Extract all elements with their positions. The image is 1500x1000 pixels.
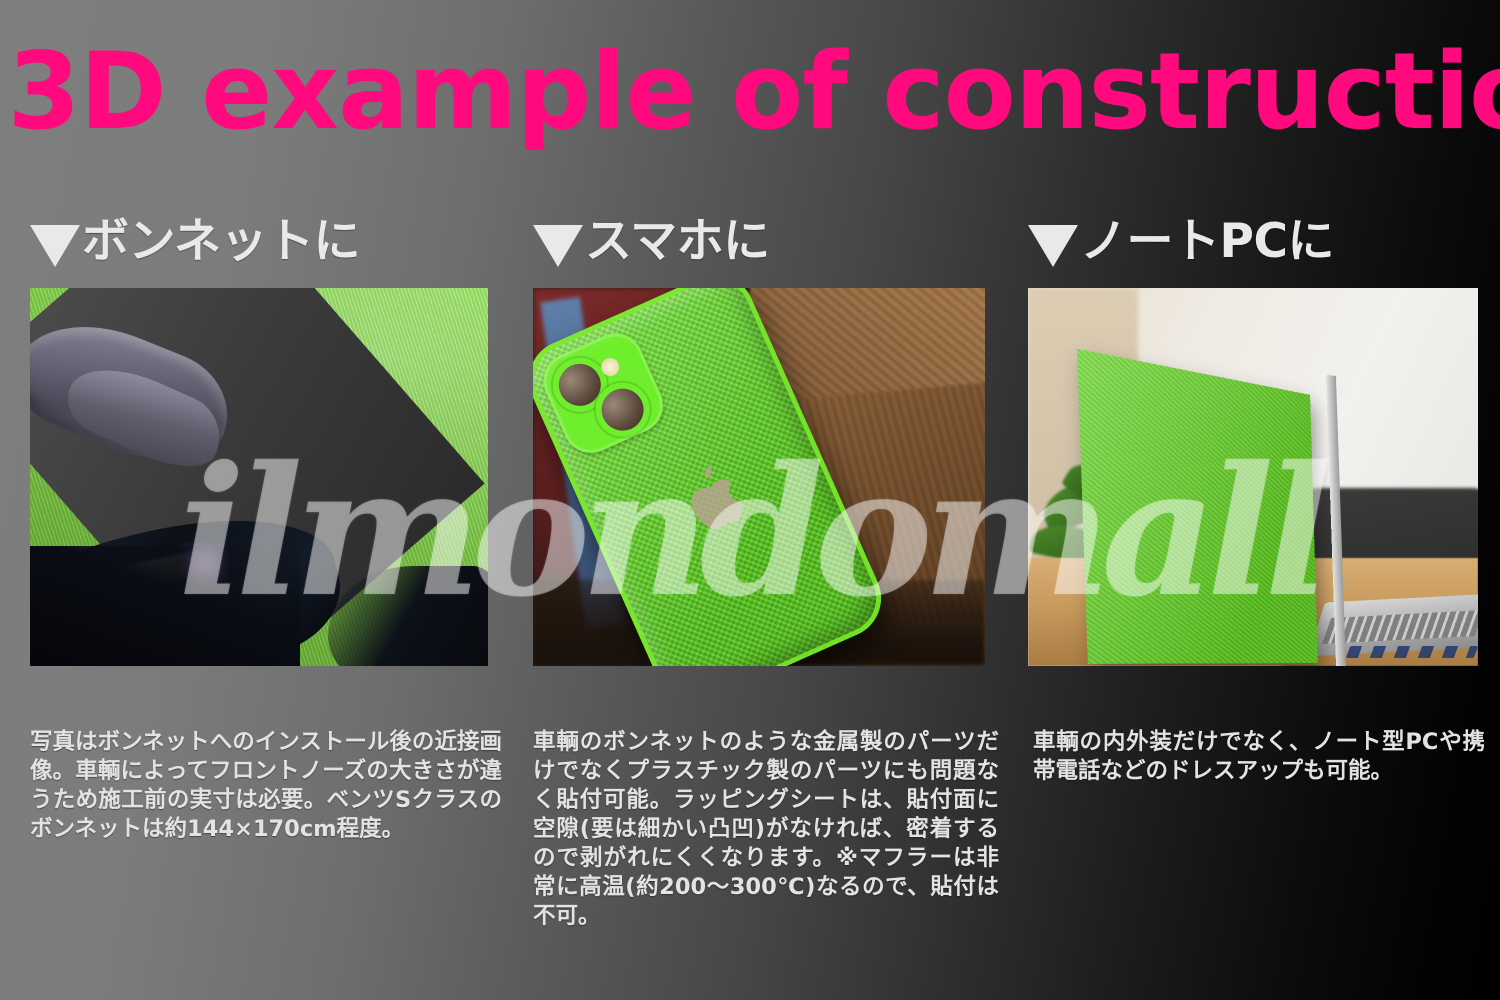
column-heading-label: ボンネットに [82,214,360,270]
triangle-down-icon [30,225,80,267]
caption-bonnet: 写真はボンネットへのインストール後の近接画像。車輌によってフロントノーズの大きさ… [30,728,502,844]
triangle-down-icon [1028,225,1078,267]
column-laptop: ノートPCに [1000,196,1500,986]
page-title: 3D example of construction [8,38,1493,146]
lid-sheen [1077,349,1318,664]
photo-bonnet [30,288,488,666]
column-heading-label: ノートPCに [1080,214,1334,270]
caption-smartphone: 車輌のボンネットのような金属製のパーツだけでなくプラスチック製のパーツにも問題な… [533,728,999,931]
photo-smartphone [533,288,985,666]
column-bonnet: ボンネットに [0,196,500,986]
promo-banner: 3D example of construction ボンネットに [0,0,1500,1000]
triangle-down-icon [533,225,583,267]
photo-dark-area-left [30,546,300,666]
column-heading-smartphone: スマホに [533,196,1000,288]
laptop-ports [1346,646,1478,658]
column-heading-label: スマホに [585,214,770,270]
column-heading-bonnet: ボンネットに [30,196,500,288]
column-heading-laptop: ノートPCに [1028,196,1500,288]
laptop-lid [1077,349,1318,664]
photo-laptop [1028,288,1478,666]
caption-laptop: 車輌の内外装だけでなく、ノート型PCや携帯電話などのドレスアップも可能。 [1033,728,1485,786]
